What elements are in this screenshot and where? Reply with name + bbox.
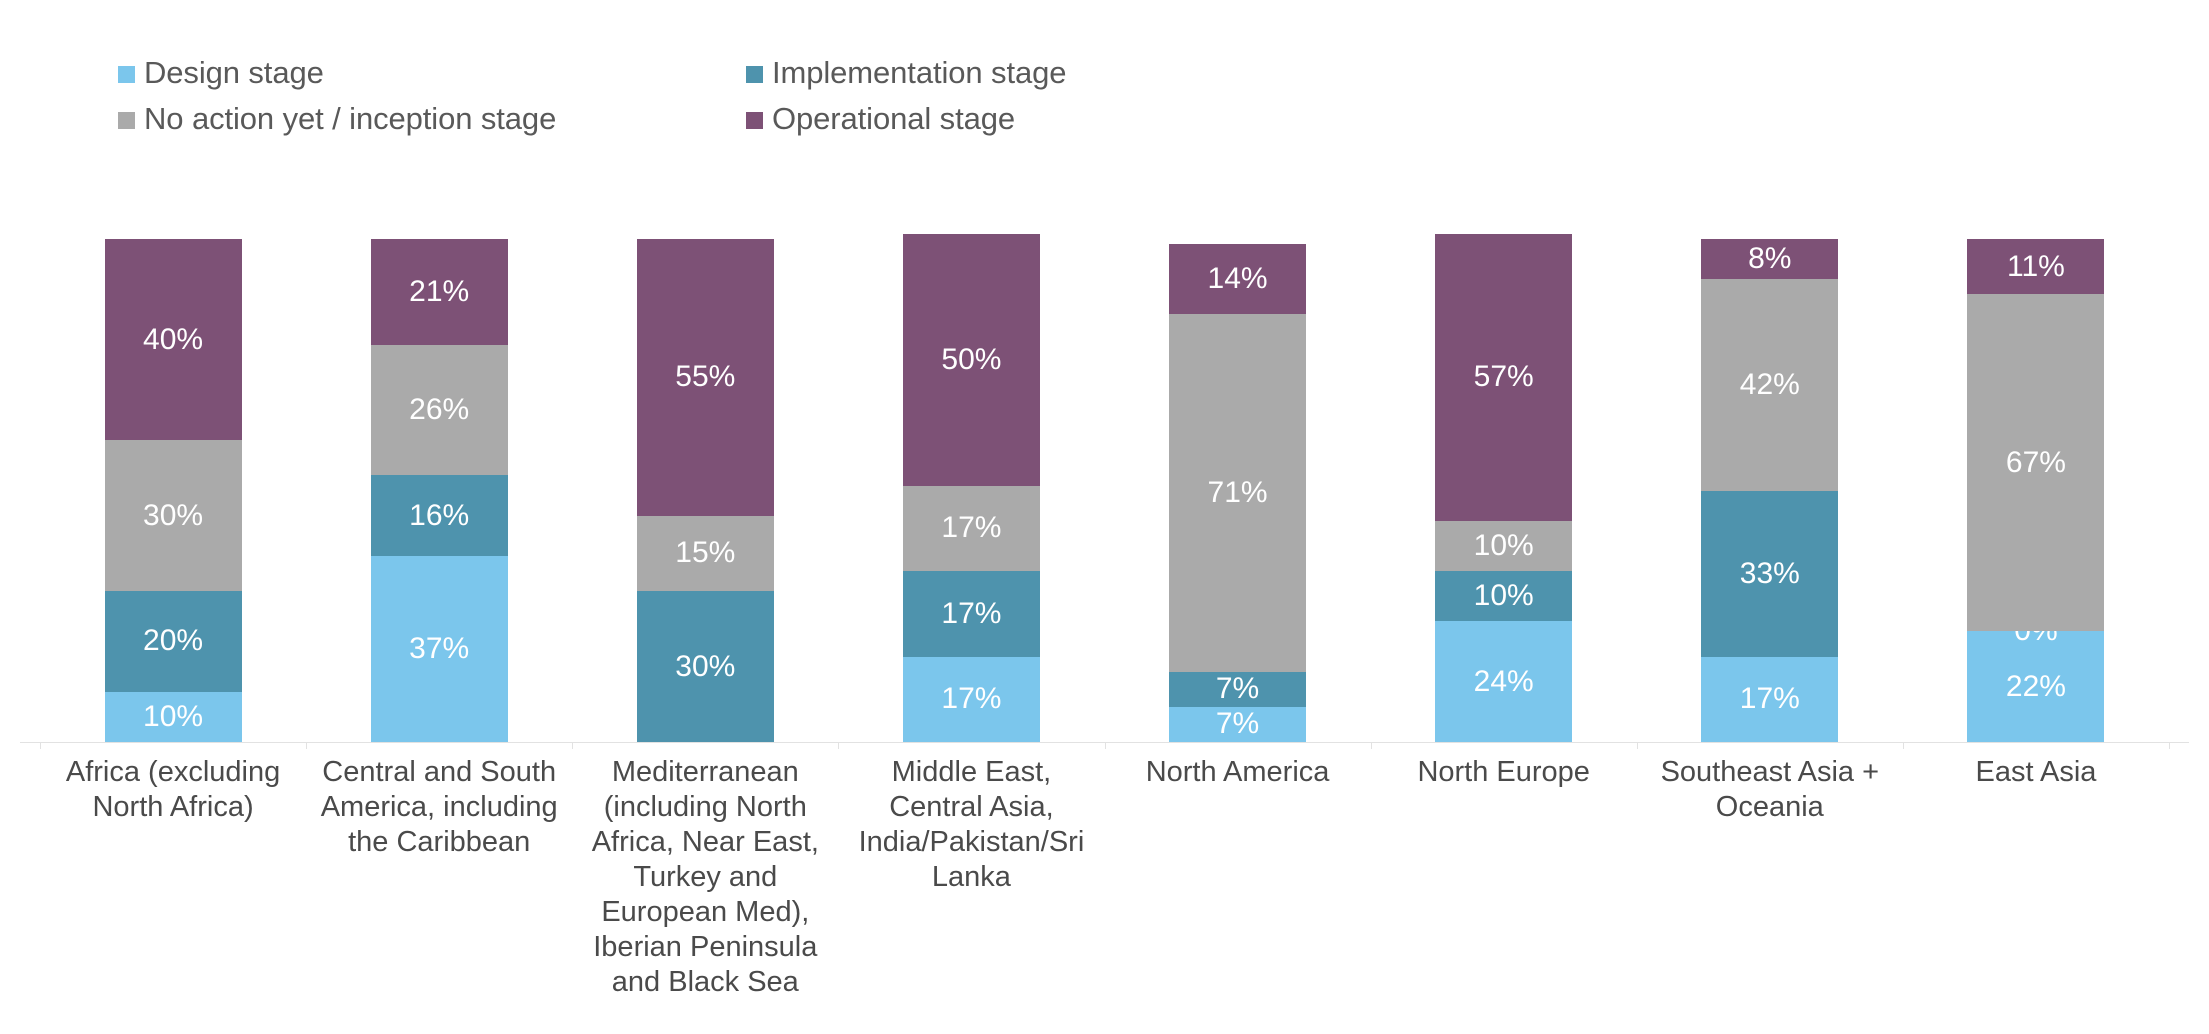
bar-segment-value-label: 20% bbox=[143, 626, 203, 656]
x-axis-category-label-text: Central and South America, including the… bbox=[314, 755, 564, 860]
bar-segment-value-label: 8% bbox=[1748, 244, 1791, 274]
bar-segment[interactable]: 20% bbox=[105, 591, 242, 692]
legend-label-no-action-stage: No action yet / inception stage bbox=[144, 101, 556, 137]
x-axis-category-label-text: Southeast Asia + Oceania bbox=[1645, 755, 1895, 825]
bar-segment-value-label: 22% bbox=[2006, 672, 2066, 702]
bar-segment-value-label: 11% bbox=[2007, 252, 2065, 282]
legend-item-no-action-stage[interactable]: No action yet / inception stage bbox=[118, 101, 746, 137]
x-axis-category-label: North America bbox=[1105, 755, 1371, 790]
bar-segment[interactable]: 8% bbox=[1701, 239, 1838, 279]
bar-slot: 7%7%71%14% bbox=[1105, 170, 1371, 742]
bar-segment[interactable]: 11% bbox=[1967, 239, 2104, 294]
bar-stack[interactable]: 7%7%71%14% bbox=[1169, 244, 1306, 742]
bar-segment[interactable]: 16% bbox=[371, 475, 508, 555]
bar-segment-value-label: 10% bbox=[1474, 531, 1534, 561]
bar-stack[interactable]: 0%30%15%55% bbox=[637, 239, 774, 742]
x-axis-tick bbox=[572, 742, 573, 749]
x-axis-tick bbox=[1371, 742, 1372, 749]
bar-slot: 22%0%67%11% bbox=[1903, 170, 2169, 742]
bar-segment[interactable]: 21% bbox=[371, 239, 508, 345]
bar-segment[interactable]: 50% bbox=[903, 234, 1040, 486]
bar-segment-value-label: 10% bbox=[143, 702, 203, 732]
x-axis-tick bbox=[1105, 742, 1106, 749]
legend-swatch-no-action-stage-icon bbox=[118, 112, 135, 129]
x-axis-category-labels: Africa (excluding North Africa)Central a… bbox=[40, 755, 2169, 1000]
bar-segment-value-label: 30% bbox=[143, 501, 203, 531]
bar-segment[interactable]: 17% bbox=[903, 486, 1040, 572]
bar-segment-value-label: 17% bbox=[941, 684, 1001, 714]
bar-segment[interactable]: 22% bbox=[1967, 631, 2104, 742]
bar-stack[interactable]: 10%20%30%40% bbox=[105, 239, 242, 742]
legend-label-implementation-stage: Implementation stage bbox=[772, 55, 1066, 91]
bar-segment[interactable]: 17% bbox=[903, 657, 1040, 743]
bar-slot: 24%10%10%57% bbox=[1371, 170, 1637, 742]
bar-stack[interactable]: 24%10%10%57% bbox=[1435, 234, 1572, 742]
bar-segment[interactable]: 15% bbox=[637, 516, 774, 591]
bar-slot: 17%17%17%50% bbox=[838, 170, 1104, 742]
bar-stack[interactable]: 17%17%17%50% bbox=[903, 234, 1040, 742]
x-axis-category-label: East Asia bbox=[1903, 755, 2169, 790]
bar-stack[interactable]: 17%33%42%8% bbox=[1701, 239, 1838, 742]
bar-segment[interactable]: 37% bbox=[371, 556, 508, 742]
x-axis-tick bbox=[2169, 742, 2170, 749]
bar-segment[interactable]: 7% bbox=[1169, 672, 1306, 707]
bar-segment-value-label: 17% bbox=[941, 599, 1001, 629]
bar-segment-value-label: 37% bbox=[409, 634, 469, 664]
bar-segment[interactable]: 17% bbox=[903, 571, 1040, 657]
bar-segment[interactable]: 40% bbox=[105, 239, 242, 440]
bar-segment-value-label: 57% bbox=[1474, 362, 1534, 392]
x-axis-tick bbox=[838, 742, 839, 749]
bar-slot: 10%20%30%40% bbox=[40, 170, 306, 742]
bar-segment[interactable]: 30% bbox=[637, 591, 774, 742]
x-axis-category-label-text: North Europe bbox=[1379, 755, 1629, 790]
bar-segment-value-label: 26% bbox=[409, 395, 469, 425]
legend-row: Design stage Implementation stage bbox=[118, 55, 1238, 91]
x-axis-category-label: Africa (excluding North Africa) bbox=[40, 755, 306, 825]
bar-segment-value-label: 10% bbox=[1474, 581, 1534, 611]
bar-segment[interactable]: 10% bbox=[1435, 521, 1572, 571]
bar-segment[interactable]: 26% bbox=[371, 345, 508, 476]
bar-slot: 17%33%42%8% bbox=[1637, 170, 1903, 742]
bar-segment-value-label: 33% bbox=[1740, 559, 1800, 589]
bar-slot: 37%16%26%21% bbox=[306, 170, 572, 742]
bar-segment-value-label: 15% bbox=[675, 538, 735, 568]
x-axis-category-label-text: Africa (excluding North Africa) bbox=[48, 755, 298, 825]
bar-segment-value-label: 17% bbox=[941, 513, 1001, 543]
bar-segment-value-label: 67% bbox=[2006, 448, 2066, 478]
x-axis-category-label: North Europe bbox=[1371, 755, 1637, 790]
legend-label-design-stage: Design stage bbox=[144, 55, 324, 91]
bar-segment[interactable]: 55% bbox=[637, 239, 774, 516]
bar-segment-value-label: 7% bbox=[1216, 674, 1259, 704]
bar-segment[interactable]: 57% bbox=[1435, 234, 1572, 521]
bar-segment[interactable]: 67% bbox=[1967, 294, 2104, 631]
x-axis-category-label-text: Mediterranean (including North Africa, N… bbox=[580, 755, 830, 1000]
bar-segment-value-label: 24% bbox=[1474, 667, 1534, 697]
bar-segment[interactable]: 42% bbox=[1701, 279, 1838, 490]
x-axis-tick bbox=[1903, 742, 1904, 749]
legend-swatch-design-stage-icon bbox=[118, 66, 135, 83]
bar-slot: 0%30%15%55% bbox=[572, 170, 838, 742]
bar-segment[interactable]: 30% bbox=[105, 440, 242, 591]
bar-group: 10%20%30%40%37%16%26%21%0%30%15%55%17%17… bbox=[40, 170, 2169, 742]
bar-segment[interactable]: 33% bbox=[1701, 491, 1838, 657]
x-axis-category-label-text: Middle East, Central Asia, India/Pakista… bbox=[846, 755, 1096, 895]
x-axis-tick bbox=[40, 742, 41, 749]
legend-label-operational-stage: Operational stage bbox=[772, 101, 1015, 137]
x-axis-category-label-text: East Asia bbox=[1911, 755, 2161, 790]
chart-legend: Design stage Implementation stage No act… bbox=[118, 55, 1238, 147]
bar-segment[interactable]: 24% bbox=[1435, 621, 1572, 742]
x-axis-tick bbox=[306, 742, 307, 749]
bar-segment[interactable]: 7% bbox=[1169, 707, 1306, 742]
bar-segment-value-label: 71% bbox=[1208, 478, 1268, 508]
stacked-bar-chart: Design stage Implementation stage No act… bbox=[0, 0, 2209, 1034]
x-axis-category-label: Southeast Asia + Oceania bbox=[1637, 755, 1903, 825]
legend-row: No action yet / inception stage Operatio… bbox=[118, 101, 1238, 137]
bar-segment[interactable]: 14% bbox=[1169, 244, 1306, 314]
bar-segment-value-label: 17% bbox=[1740, 684, 1800, 714]
x-axis-category-label: Mediterranean (including North Africa, N… bbox=[572, 755, 838, 1000]
x-axis-category-label-text: North America bbox=[1113, 755, 1363, 790]
legend-swatch-implementation-stage-icon bbox=[746, 66, 763, 83]
bar-segment[interactable]: 17% bbox=[1701, 657, 1838, 743]
plot-area: 10%20%30%40%37%16%26%21%0%30%15%55%17%17… bbox=[0, 170, 2209, 745]
legend-swatch-operational-stage-icon bbox=[746, 112, 763, 129]
legend-item-operational-stage[interactable]: Operational stage bbox=[746, 101, 1226, 137]
bar-segment-value-label: 7% bbox=[1216, 709, 1259, 739]
bar-segment-value-label: 30% bbox=[675, 652, 735, 682]
bar-segment[interactable]: 71% bbox=[1169, 314, 1306, 671]
bar-segment-value-label: 55% bbox=[675, 362, 735, 392]
bar-segment[interactable]: 10% bbox=[1435, 571, 1572, 621]
bar-stack[interactable]: 22%0%67%11% bbox=[1967, 239, 2104, 742]
legend-item-design-stage[interactable]: Design stage bbox=[118, 55, 746, 91]
bar-segment-value-label: 14% bbox=[1208, 264, 1268, 294]
bar-segment-value-label: 40% bbox=[143, 325, 203, 355]
legend-item-implementation-stage[interactable]: Implementation stage bbox=[746, 55, 1226, 91]
bar-segment-value-label: 16% bbox=[409, 501, 469, 531]
x-axis-category-label: Central and South America, including the… bbox=[306, 755, 572, 860]
bar-stack[interactable]: 37%16%26%21% bbox=[371, 239, 508, 742]
x-axis-tick bbox=[1637, 742, 1638, 749]
x-axis-category-label: Middle East, Central Asia, India/Pakista… bbox=[838, 755, 1104, 895]
bar-segment-value-label: 42% bbox=[1740, 370, 1800, 400]
bar-segment-value-label: 50% bbox=[941, 345, 1001, 375]
bar-segment-value-label: 21% bbox=[409, 277, 469, 307]
bar-segment[interactable]: 10% bbox=[105, 692, 242, 742]
